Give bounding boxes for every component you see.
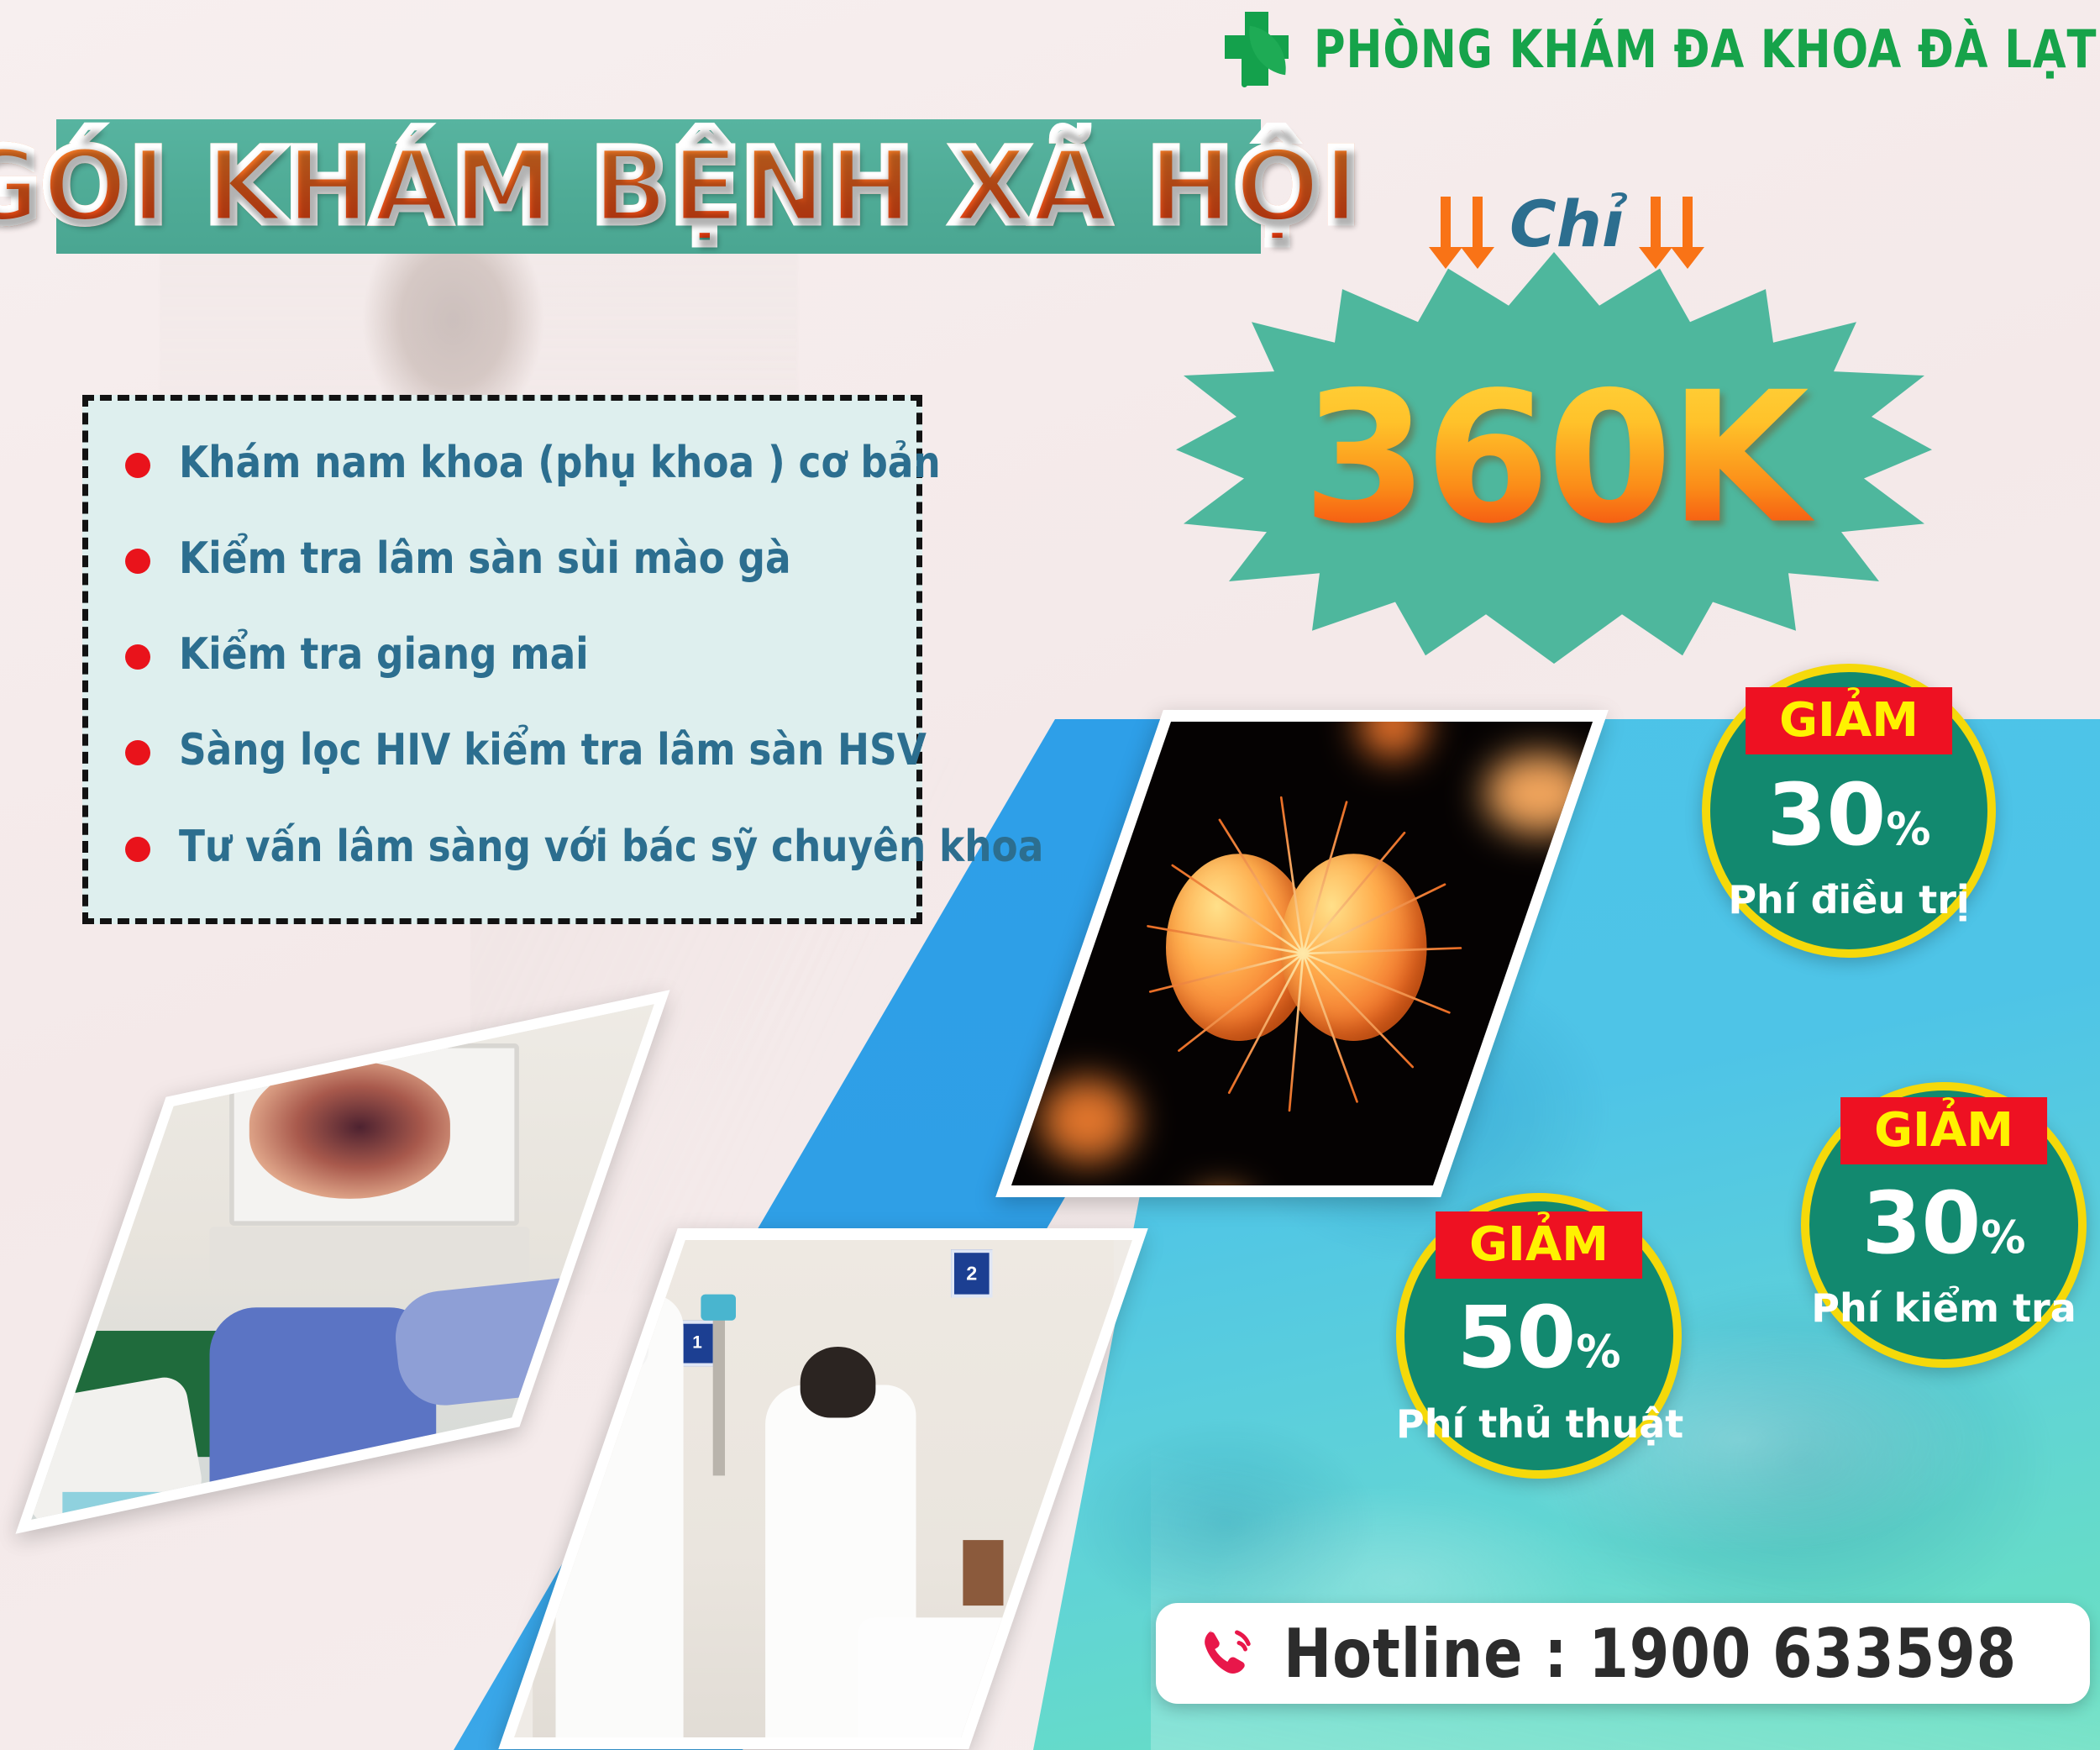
badge-tag: GIẢM xyxy=(1840,1097,2047,1164)
arrow-down-icon xyxy=(1473,197,1483,252)
badge-tag: GIẢM xyxy=(1436,1211,1642,1279)
promo-poster: PHÒNG KHÁM ĐA KHOA ĐÀ LẠT GÓI KHÁM BỆNH … xyxy=(0,0,2100,1750)
percent-symbol: % xyxy=(1576,1326,1620,1378)
title-banner: GÓI KHÁM BỆNH XÃ HỘI xyxy=(56,119,1261,254)
room-sign: 1 xyxy=(678,1321,717,1366)
bullet-icon xyxy=(125,453,150,478)
bullet-icon xyxy=(125,549,150,574)
list-item: Khám nam khoa (phụ khoa ) cơ bản xyxy=(125,439,883,486)
badge-tag: GIẢM xyxy=(1746,687,1952,754)
price-starburst: 360K xyxy=(1176,252,1932,664)
discount-badge: GIẢM 30% Phí điều trị xyxy=(1702,664,1996,958)
arrow-down-icon xyxy=(1651,197,1661,252)
phone-call-icon xyxy=(1193,1620,1260,1687)
badge-subtitle: Phí thủ thuật xyxy=(1396,1405,1682,1443)
room-sign: 2 xyxy=(951,1249,992,1298)
hotline-number: Hotline : 1900 633598 xyxy=(1284,1615,2017,1693)
list-item: Kiểm tra giang mai xyxy=(125,631,883,678)
service-label: Tư vấn lâm sàng với bác sỹ chuyên khoa xyxy=(179,823,1043,870)
hotline-bar[interactable]: Hotline : 1900 633598 xyxy=(1156,1603,2090,1704)
list-item: Kiểm tra lâm sàn sùi mào gà xyxy=(125,535,883,582)
badge-percent: 30% xyxy=(1702,773,1996,859)
badge-percent-value: 50 xyxy=(1457,1288,1576,1388)
bullet-icon xyxy=(125,740,150,765)
services-list: Khám nam khoa (phụ khoa ) cơ bản Kiểm tr… xyxy=(82,395,922,924)
service-label: Sàng lọc HIV kiểm tra lâm sàn HSV xyxy=(179,727,927,774)
discount-badge: GIẢM 30% Phí kiểm tra xyxy=(1801,1082,2087,1368)
list-item: Tư vấn lâm sàng với bác sỹ chuyên khoa xyxy=(125,823,883,870)
list-item: Sàng lọc HIV kiểm tra lâm sàn HSV xyxy=(125,727,883,774)
percent-symbol: % xyxy=(1981,1211,2025,1264)
bullet-icon xyxy=(125,837,150,862)
service-label: Khám nam khoa (phụ khoa ) cơ bản xyxy=(179,439,941,486)
ward-scene: 1 2 xyxy=(533,1240,1114,1737)
clinic-name: PHÒNG KHÁM ĐA KHOA ĐÀ LẠT xyxy=(1314,18,2097,80)
endoscopy-photo xyxy=(15,990,669,1534)
price-value: 360K xyxy=(1176,368,1932,549)
percent-symbol: % xyxy=(1886,803,1930,855)
service-label: Kiểm tra lâm sàn sùi mào gà xyxy=(179,535,791,582)
arrow-down-icon xyxy=(1683,197,1693,252)
price-prefix: Chỉ xyxy=(1509,192,1624,256)
badge-percent-value: 30 xyxy=(1861,1174,1981,1274)
bullet-icon xyxy=(125,644,150,670)
page-title: GÓI KHÁM BỆNH XÃ HỘI xyxy=(0,135,1361,238)
service-label: Kiểm tra giang mai xyxy=(179,631,589,678)
endoscopy-scene xyxy=(31,1004,654,1520)
arrow-down-icon xyxy=(1441,197,1451,252)
clinic-logo: PHÒNG KHÁM ĐA KHOA ĐÀ LẠT xyxy=(1218,10,2100,87)
badge-percent-value: 30 xyxy=(1767,765,1886,865)
badge-subtitle: Phí kiểm tra xyxy=(1801,1289,2087,1327)
badge-subtitle: Phí điều trị xyxy=(1702,880,1996,919)
discount-badge: GIẢM 50% Phí thủ thuật xyxy=(1396,1193,1682,1479)
medical-cross-leaf-icon xyxy=(1218,10,1295,87)
badge-percent: 50% xyxy=(1396,1295,1682,1381)
badge-percent: 30% xyxy=(1801,1181,2087,1267)
